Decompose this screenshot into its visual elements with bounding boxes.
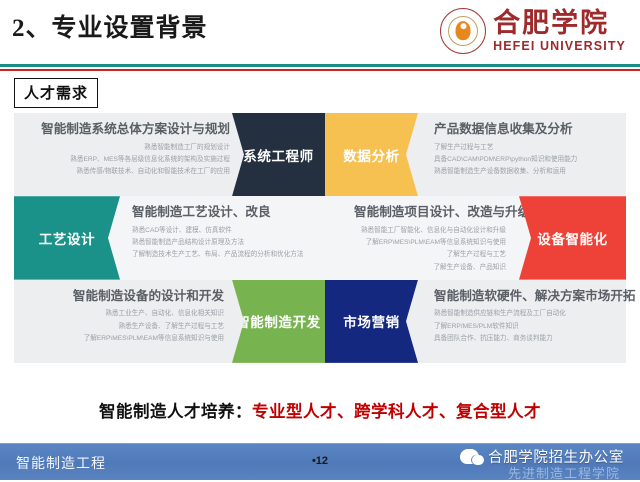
matrix-cell-text: 智能制造设备的设计和开发 熟悉工业生产、自动化、信息化相关知识 熟悉生产设备、了… xyxy=(14,280,234,363)
cell-line: 了解ERP\MES\PLM\EAM等信息系统知识与使用 xyxy=(24,333,224,345)
role-chip-label: 智能制造开发 xyxy=(236,311,321,331)
role-chip-system-engineer[interactable]: 系统工程师 xyxy=(232,113,325,196)
hefei-university-emblem-icon xyxy=(440,8,486,54)
wechat-icon xyxy=(460,449,479,464)
cell-line: 熟悉智能制造生产设备数据收集、分析和运用 xyxy=(434,166,616,178)
matrix-row: 工艺设计 智能制造工艺设计、改良 熟悉CAD等设计、建模、仿真软件 熟悉智能制造… xyxy=(14,196,626,279)
cell-line: 熟悉CAD等设计、建模、仿真软件 xyxy=(132,225,332,237)
page-title: 2、专业设置背景 xyxy=(12,8,208,44)
cell-heading: 智能制造软硬件、解决方案市场开拓 xyxy=(434,289,616,305)
cell-line: 了解生产过程与工艺 xyxy=(354,249,506,261)
cell-line: 熟悉智能制造产品结构设计原理及方法 xyxy=(132,237,332,249)
brand-name-en: HEFEI UNIVERSITY xyxy=(493,40,626,53)
brand-logo: 合肥学院 HEFEI UNIVERSITY xyxy=(440,6,626,56)
cell-line: 熟悉智能工厂智能化、信息化与自动化设计和升级 xyxy=(354,225,506,237)
cell-line: 熟悉ERP、MES等各层级信息化系统的架构及实施过程 xyxy=(24,154,230,166)
conclusion-highlight: 专业型人才、跨学科人才、复合型人才 xyxy=(252,402,541,421)
cell-line: 具备CAD\CAM\PDM\ERP\python知识和使用能力 xyxy=(434,154,616,166)
role-chip-label: 设备智能化 xyxy=(537,228,608,248)
talent-demand-matrix: 智能制造系统总体方案设计与规划 熟悉智能制造工厂的规划设计 熟悉ERP、MES等… xyxy=(14,113,626,363)
cell-line: 具备团队合作、抗压能力、商务谈判能力 xyxy=(434,333,616,345)
wechat-account-label: 合肥学院招生办公室 xyxy=(483,446,624,467)
cell-heading: 智能制造设备的设计和开发 xyxy=(24,289,224,305)
cell-line: 熟悉工业生产、自动化、信息化相关知识 xyxy=(24,308,224,320)
role-chip-label: 系统工程师 xyxy=(243,145,314,165)
wechat-badge: 合肥学院招生办公室 xyxy=(460,446,624,467)
cell-line: 了解ERP/MES/PLM软件知识 xyxy=(434,321,616,333)
slide-footer: 智能制造工程 •12 先进制造工程学院 合肥学院招生办公室 xyxy=(0,443,640,480)
emblem-core-icon xyxy=(456,21,471,40)
role-chip-label: 工艺设计 xyxy=(39,228,95,248)
conclusion-line: 智能制造人才培养：专业型人才、跨学科人才、复合型人才 xyxy=(0,398,640,422)
matrix-cell-text: 智能制造系统总体方案设计与规划 熟悉智能制造工厂的规划设计 熟悉ERP、MES等… xyxy=(14,113,240,196)
divider-red xyxy=(0,69,640,71)
conclusion-prefix: 智能制造人才培养： xyxy=(99,402,252,421)
brand-text: 合肥学院 HEFEI UNIVERSITY xyxy=(493,10,626,53)
matrix-row: 智能制造设备的设计和开发 熟悉工业生产、自动化、信息化相关知识 熟悉生产设备、了… xyxy=(14,280,626,363)
cell-heading: 智能制造工艺设计、改良 xyxy=(132,205,332,221)
brand-name-cn: 合肥学院 xyxy=(493,10,626,37)
cell-line: 了解制造技术生产工艺、布局、产品流程的分析和优化方法 xyxy=(132,249,332,261)
role-chip-data-analysis[interactable]: 数据分析 xyxy=(325,113,418,196)
matrix-cell-text: 智能制造工艺设计、改良 熟悉CAD等设计、建模、仿真软件 熟悉智能制造产品结构设… xyxy=(122,196,342,279)
divider-teal xyxy=(0,64,640,67)
role-chip-marketing[interactable]: 市场营销 xyxy=(325,280,418,363)
cell-heading: 智能制造系统总体方案设计与规划 xyxy=(24,122,230,138)
role-chip-label: 数据分析 xyxy=(343,145,399,165)
matrix-row: 智能制造系统总体方案设计与规划 熟悉智能制造工厂的规划设计 熟悉ERP、MES等… xyxy=(14,113,626,196)
cell-line: 了解ERP\MES\PLM\EAM等信息系统知识与使用 xyxy=(354,237,506,249)
cell-line: 熟悉传感/物联技术、自动化和智能技术在工厂的应用 xyxy=(24,166,230,178)
role-chip-process-design[interactable]: 工艺设计 xyxy=(14,196,120,279)
cell-heading: 产品数据信息收集及分析 xyxy=(434,122,616,138)
role-chip-smart-manufacturing-dev[interactable]: 智能制造开发 xyxy=(232,280,325,363)
matrix-cell-text: 智能制造项目设计、改造与升级 熟悉智能工厂智能化、信息化与自动化设计和升级 了解… xyxy=(344,196,516,279)
slide-header: 2、专业设置背景 合肥学院 HEFEI UNIVERSITY xyxy=(0,0,640,62)
section-tag: 人才需求 xyxy=(14,78,98,108)
matrix-cell-text: 产品数据信息收集及分析 了解生产过程与工艺 具备CAD\CAM\PDM\ERP\… xyxy=(424,113,626,196)
cell-line: 了解生产过程与工艺 xyxy=(434,142,616,154)
cell-line: 熟悉生产设备、了解生产过程与工艺 xyxy=(24,321,224,333)
role-chip-label: 市场营销 xyxy=(343,311,399,331)
matrix-cell-text: 智能制造软硬件、解决方案市场开拓 熟悉智能制造供应链和生产流程及工厂自动化 了解… xyxy=(424,280,626,363)
cell-heading: 智能制造项目设计、改造与升级 xyxy=(354,205,506,221)
cell-line: 熟悉智能制造供应链和生产流程及工厂自动化 xyxy=(434,308,616,320)
cell-line: 了解生产设备、产品知识 xyxy=(354,262,506,274)
cell-line: 熟悉智能制造工厂的规划设计 xyxy=(24,142,230,154)
role-chip-equipment-intelligence[interactable]: 设备智能化 xyxy=(519,196,626,279)
